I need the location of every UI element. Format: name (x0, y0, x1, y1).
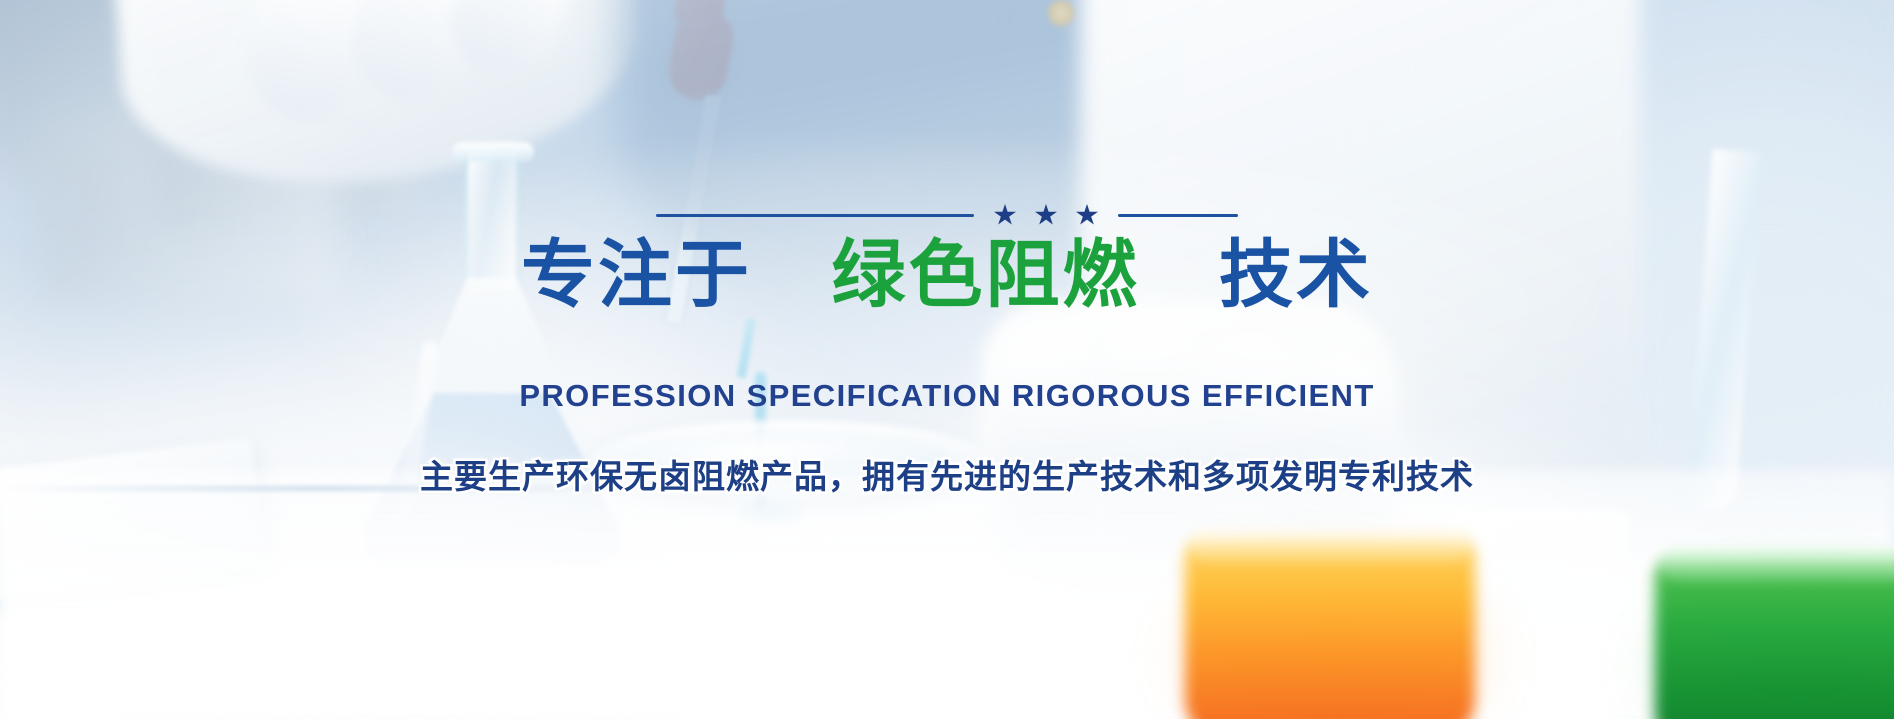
divider-rule-left (656, 214, 974, 217)
star-divider (611, 206, 1283, 224)
hero-banner: 专注于 绿色阻燃 技术 PROFESSION SPECIFICATION RIG… (0, 0, 1894, 719)
divider-rule-right (1118, 214, 1238, 217)
title-part-2: 绿色阻燃 (832, 232, 1140, 318)
star-group (974, 204, 1118, 226)
page-tagline: 主要生产环保无卤阻燃产品，拥有先进的生产技术和多项发明专利技术 (420, 450, 1474, 498)
banner-content: 专注于 绿色阻燃 技术 PROFESSION SPECIFICATION RIG… (0, 0, 1894, 719)
star-icon (994, 204, 1016, 226)
star-icon (1076, 204, 1098, 226)
page-subtitle: PROFESSION SPECIFICATION RIGOROUS EFFICI… (519, 378, 1374, 414)
title-part-1: 专注于 (521, 232, 752, 318)
title-part-3: 技术 (1219, 232, 1373, 318)
star-icon (1035, 204, 1057, 226)
page-title: 专注于 绿色阻燃 技术 (521, 236, 1373, 314)
